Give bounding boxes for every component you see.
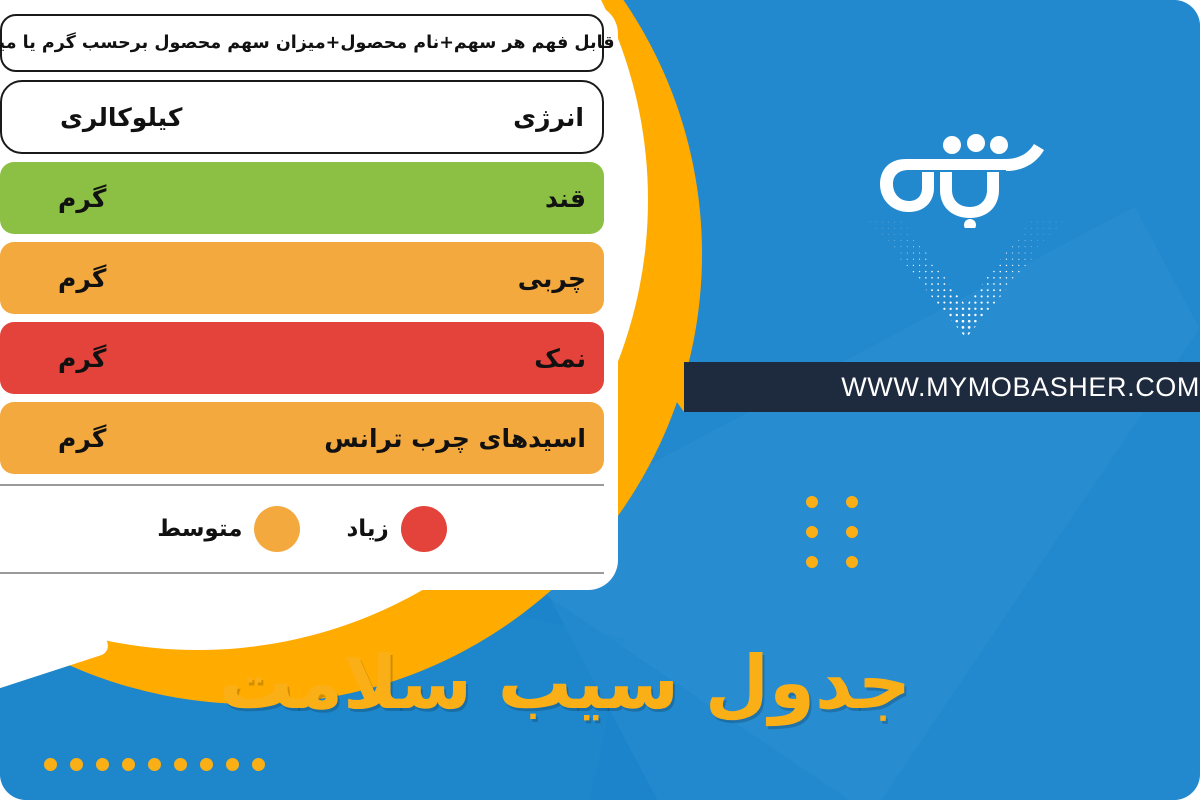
dot — [252, 758, 265, 771]
poster-title: جدول سیب سلامت — [0, 642, 1130, 725]
table-row-energy[interactable]: انرژی کیلوکالری — [0, 80, 604, 154]
dot — [148, 758, 161, 771]
legend-dot-red-icon — [401, 506, 447, 552]
website-url-bar: WWW.MYMOBASHER.COM — [684, 362, 1200, 412]
dot — [846, 496, 858, 508]
legend-strip: زیاد متوسط — [0, 484, 604, 574]
row-label: چربی — [518, 264, 586, 293]
legend-dot-orange-icon — [254, 506, 300, 552]
row-unit: کیلوکالری — [20, 103, 182, 132]
row-unit: گرم — [18, 424, 106, 453]
dot — [806, 496, 818, 508]
legend-item-medium: متوسط — [157, 506, 300, 552]
poster-canvas: معیار قابل فهم هر سهم+نام محصول+میزان سه… — [0, 0, 1200, 800]
row-unit: گرم — [18, 344, 106, 373]
decorative-dot-row — [44, 758, 265, 771]
dot — [122, 758, 135, 771]
dot — [200, 758, 213, 771]
row-unit: گرم — [18, 184, 106, 213]
dot — [70, 758, 83, 771]
nutrition-table-card: معیار قابل فهم هر سهم+نام محصول+میزان سه… — [0, 4, 618, 590]
row-unit: گرم — [18, 264, 106, 293]
table-row-salt[interactable]: نمک گرم — [0, 322, 604, 394]
legend-label: متوسط — [157, 516, 242, 542]
url-bar-corner-notch — [648, 362, 684, 412]
dot — [806, 556, 818, 568]
dot — [846, 526, 858, 538]
dot — [846, 556, 858, 568]
dot — [44, 758, 57, 771]
row-label: نمک — [534, 344, 586, 373]
website-url-text[interactable]: WWW.MYMOBASHER.COM — [841, 372, 1200, 403]
row-label: انرژی — [513, 103, 584, 132]
brand-logo — [866, 128, 1066, 338]
row-label: اسیدهای چرب ترانس — [324, 424, 586, 453]
table-caption-text: معیار قابل فهم هر سهم+نام محصول+میزان سه… — [0, 33, 618, 53]
table-row-sugar[interactable]: قند گرم — [0, 162, 604, 234]
table-caption-row: معیار قابل فهم هر سهم+نام محصول+میزان سه… — [0, 14, 604, 72]
dot — [806, 526, 818, 538]
legend-label: زیاد — [346, 516, 388, 542]
table-row-trans-fat[interactable]: اسیدهای چرب ترانس گرم — [0, 402, 604, 474]
halftone-chevron-icon — [868, 220, 1064, 338]
legend-item-high: زیاد — [346, 506, 446, 552]
decorative-dot-grid — [806, 496, 858, 568]
row-label: قند — [545, 184, 586, 213]
mobasher-wordmark-icon — [866, 128, 1066, 228]
dot — [96, 758, 109, 771]
table-row-fat[interactable]: چربی گرم — [0, 242, 604, 314]
dot — [226, 758, 239, 771]
dot — [174, 758, 187, 771]
